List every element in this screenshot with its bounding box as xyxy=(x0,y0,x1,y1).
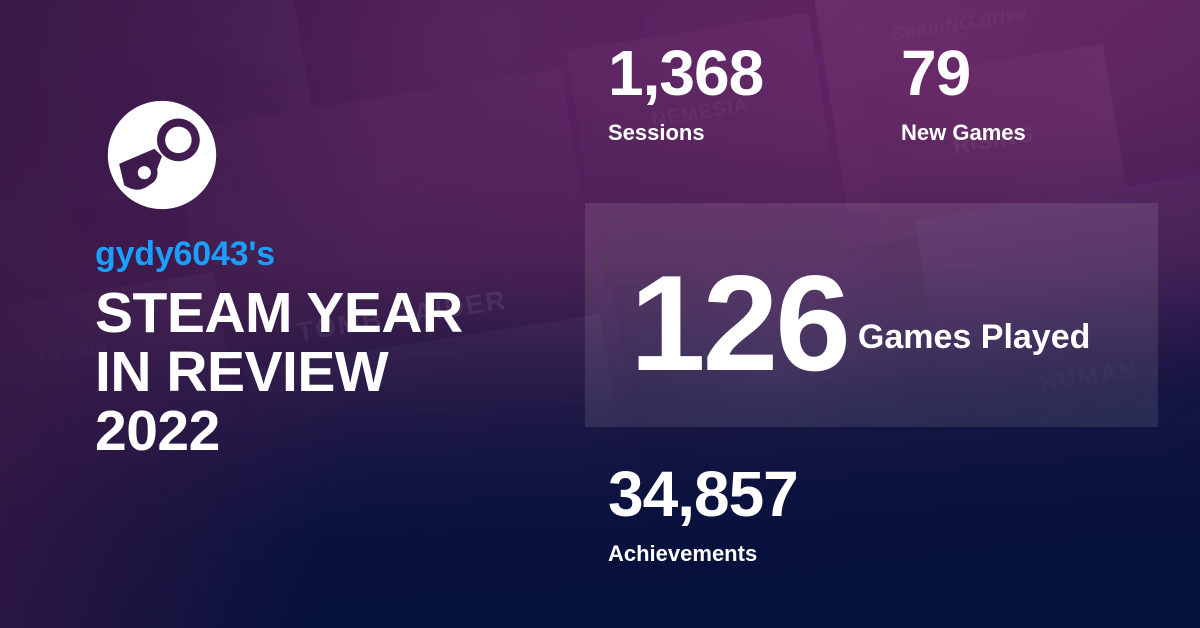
stat-sessions-label: Sessions xyxy=(608,122,763,144)
stat-new-games-value: 79 xyxy=(901,41,1026,105)
stat-sessions: 1,368 Sessions xyxy=(608,41,763,144)
username-label: gydy6043's xyxy=(95,237,615,273)
stat-new-games-label: New Games xyxy=(901,122,1026,144)
steam-logo-icon xyxy=(99,92,225,218)
page-title: STEAM YEAR IN REVIEW 2022 xyxy=(95,284,615,462)
title-block: gydy6043's STEAM YEAR IN REVIEW 2022 xyxy=(95,237,615,461)
stat-new-games: 79 New Games xyxy=(901,41,1026,144)
steam-year-in-review-card: SOCIETY THE LIFE MONSTER HUNTER WORLD TO… xyxy=(0,0,1200,628)
title-line-3: 2022 xyxy=(95,402,615,461)
title-line-1: STEAM YEAR xyxy=(95,284,615,343)
stat-achievements: 34,857 Achievements xyxy=(608,462,798,565)
stat-games-played-value: 126 xyxy=(630,272,848,375)
stat-achievements-value: 34,857 xyxy=(608,462,798,526)
title-line-2: IN REVIEW xyxy=(95,343,615,402)
stat-games-played-label: Games Played xyxy=(858,320,1090,354)
stat-sessions-value: 1,368 xyxy=(608,41,763,105)
stat-games-played: 126 Games Played xyxy=(630,272,1090,376)
stat-achievements-label: Achievements xyxy=(608,543,798,565)
